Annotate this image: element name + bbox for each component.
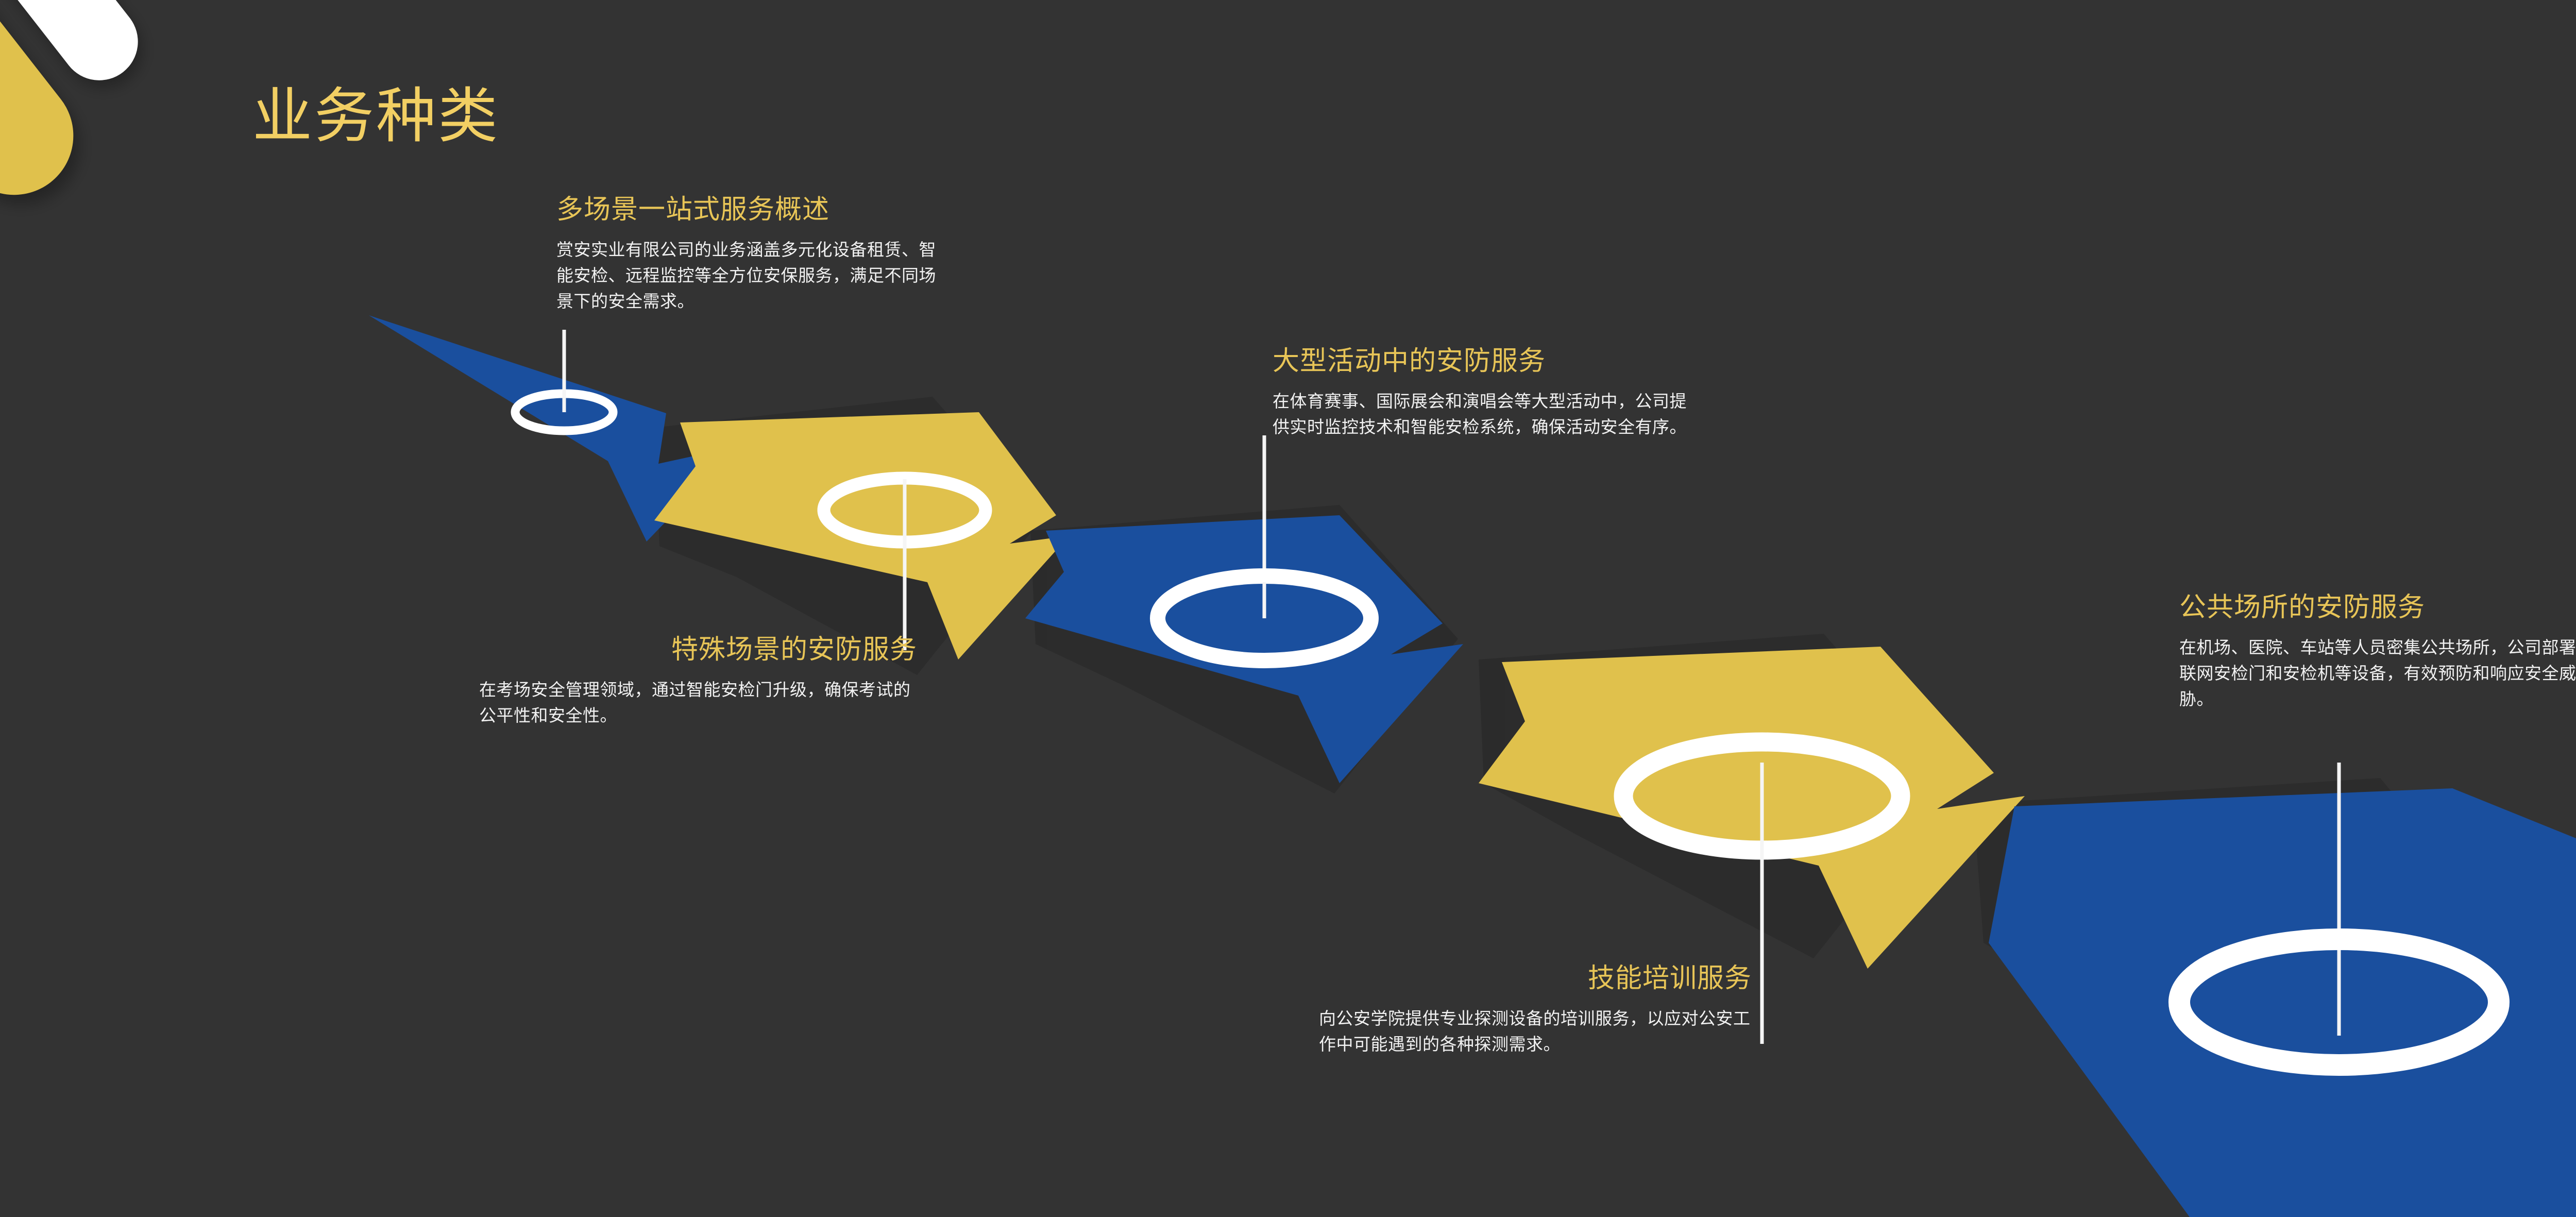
caption-heading-3: 大型活动中的安防服务 — [1273, 346, 1700, 377]
caption-block-3: 大型活动中的安防服务 在体育赛事、国际展会和演唱会等大型活动中，公司提供实时监控… — [1273, 346, 1700, 440]
caption-body-1: 赏安实业有限公司的业务涵盖多元化设备租赁、智能安检、远程监控等全方位安保服务，满… — [556, 237, 953, 314]
caption-heading-5: 公共场所的安防服务 — [2179, 593, 2576, 623]
caption-block-4: 技能培训服务 向公安学院提供专业探测设备的培训服务，以应对公安工作中可能遇到的各… — [1319, 964, 1752, 1057]
caption-body-2: 在考场安全管理领域，通过智能安检门升级，确保考试的公平性和安全性。 — [479, 677, 917, 729]
page-title: 业务种类 — [252, 85, 500, 148]
caption-block-2: 特殊场景的安防服务 在考场安全管理领域，通过智能安检门升级，确保考试的公平性和安… — [479, 635, 917, 729]
caption-heading-1: 多场景一站式服务概述 — [556, 195, 953, 226]
caption-block-1: 多场景一站式服务概述 赏安实业有限公司的业务涵盖多元化设备租赁、智能安检、远程监… — [556, 195, 953, 314]
slide-canvas: 业务种类 多场景一站式服务概述 赏安实业有限公司的业务涵盖多元化设备租赁、智能安… — [0, 0, 2576, 1217]
caption-body-3: 在体育赛事、国际展会和演唱会等大型活动中，公司提供实时监控技术和智能安检系统，确… — [1273, 388, 1700, 440]
caption-heading-4: 技能培训服务 — [1319, 964, 1752, 994]
caption-block-5: 公共场所的安防服务 在机场、医院、车站等人员密集公共场所，公司部署联网安检门和安… — [2179, 593, 2576, 712]
caption-body-5: 在机场、医院、车站等人员密集公共场所，公司部署联网安检门和安检机等设备，有效预防… — [2179, 635, 2576, 712]
caption-heading-2: 特殊场景的安防服务 — [479, 635, 917, 666]
caption-body-4: 向公安学院提供专业探测设备的培训服务，以应对公安工作中可能遇到的各种探测需求。 — [1319, 1006, 1752, 1057]
